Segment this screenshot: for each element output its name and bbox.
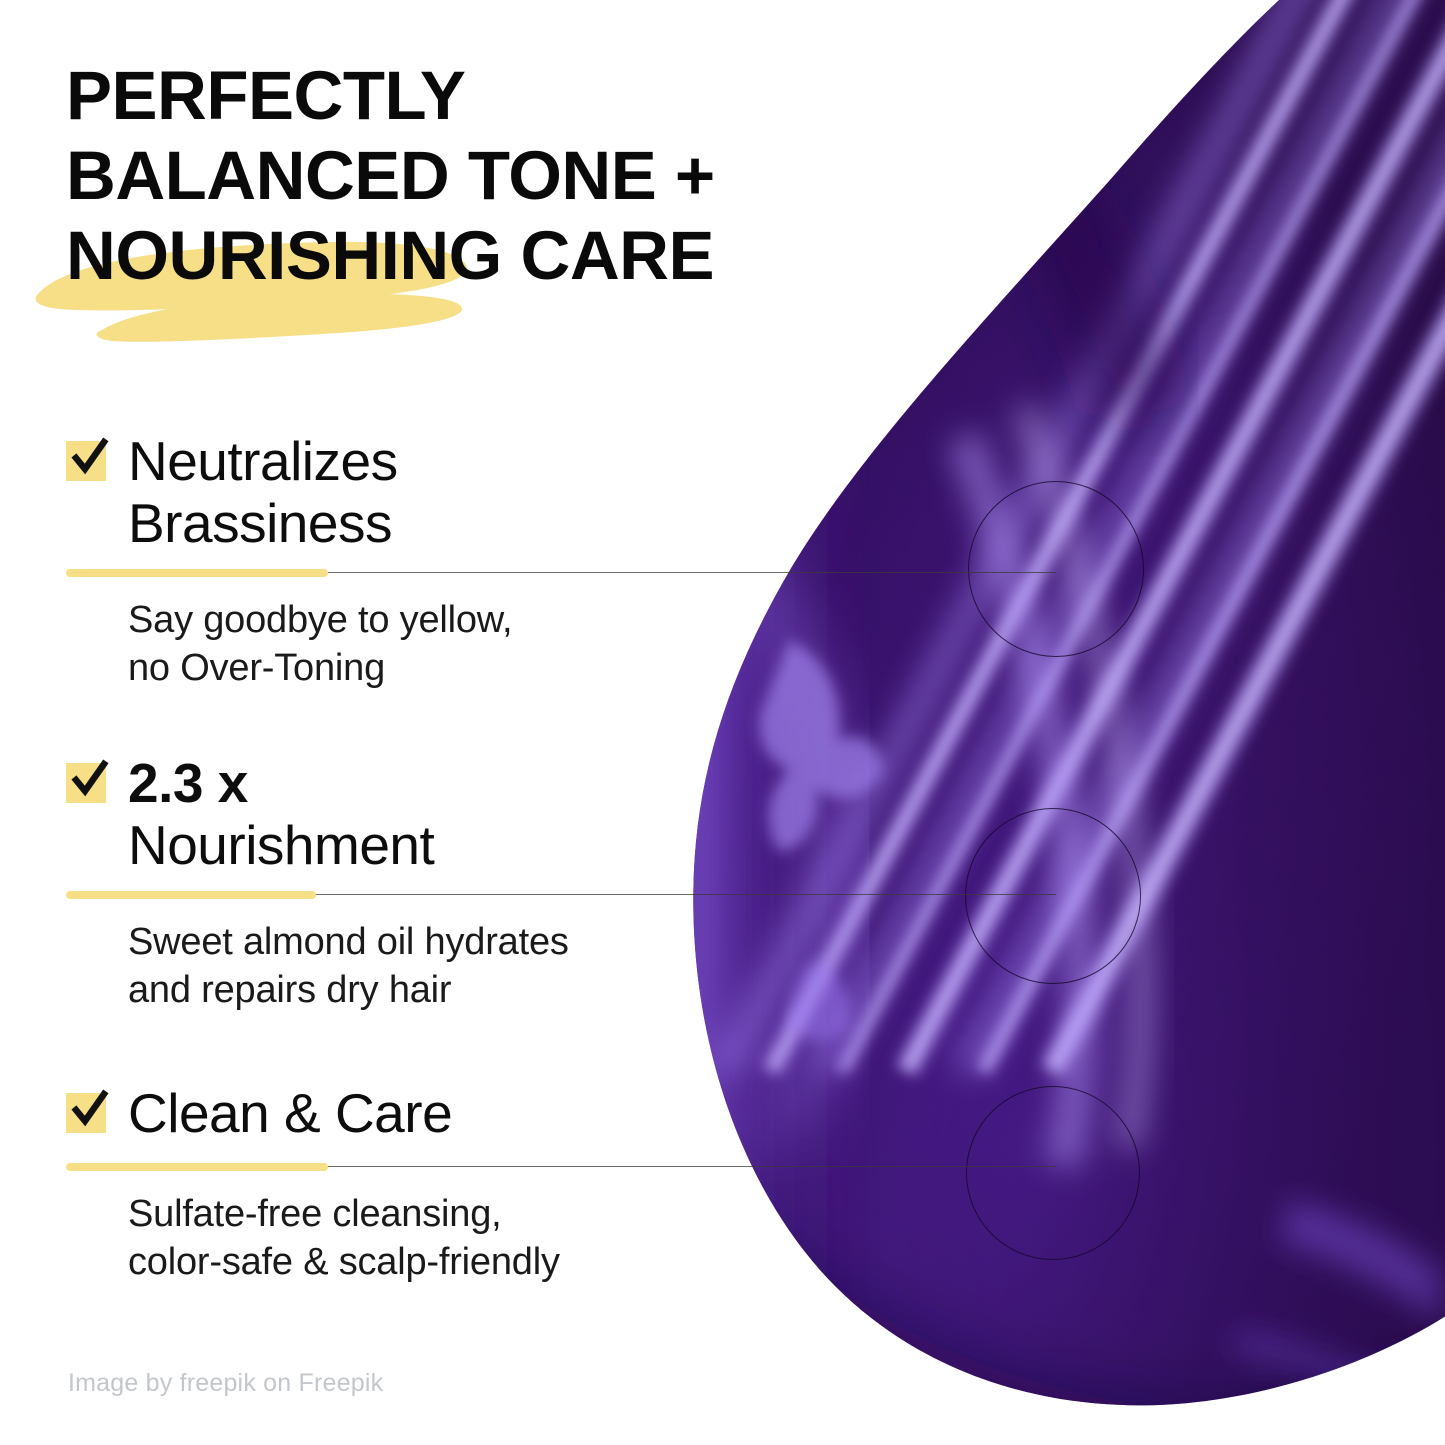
feature-3-rule [66,1162,1066,1172]
feature-2-title-line2: Nourishment [128,814,434,876]
feature-2-leader-line [316,894,1056,895]
image-credit: Image by freepik on Freepik [68,1369,383,1398]
feature-3-desc-line1: Sulfate-free cleansing, [128,1190,1066,1238]
feature-1-title-line2: Brassiness [128,492,398,554]
feature-3-desc-line2: color-safe & scalp-friendly [128,1238,1066,1286]
feature-3-title: Clean & Care [128,1082,452,1144]
feature-2-title-line1: 2.3 x [128,752,248,814]
feature-1-title-line1: Neutralizes [128,430,398,492]
feature-3-description: Sulfate-free cleansing, color-safe & sca… [128,1190,1066,1286]
feature-1-head: Neutralizes Brassiness [66,430,1066,554]
check-icon [66,1093,106,1133]
headline-line-1: PERFECTLY [66,56,966,136]
feature-1-desc-line1: Say goodbye to yellow, [128,596,1066,644]
feature-1-rule-yellow [66,569,328,577]
check-icon [66,441,106,481]
feature-block-1: Neutralizes Brassiness Say goodbye to ye… [66,430,1066,692]
feature-2-rule-yellow [66,891,316,899]
feature-3-head: Clean & Care [66,1082,1066,1144]
check-icon [66,763,106,803]
feature-1-title: Neutralizes Brassiness [128,430,398,554]
feature-1-rule [66,568,1066,578]
headline-line-2: BALANCED TONE + [66,136,966,216]
infographic-canvas: PERFECTLY BALANCED TONE + NOURISHING CAR… [0,0,1445,1445]
headline-line-3: NOURISHING CARE [66,216,966,296]
feature-block-2: 2.3 x Nourishment Sweet almond oil hydra… [66,752,1066,1014]
feature-2-desc-line1: Sweet almond oil hydrates [128,918,1066,966]
feature-3-rule-yellow [66,1163,328,1171]
feature-2-description: Sweet almond oil hydrates and repairs dr… [128,918,1066,1014]
feature-2-desc-line2: and repairs dry hair [128,966,1066,1014]
feature-1-leader-line [328,572,1056,573]
feature-2-head: 2.3 x Nourishment [66,752,1066,876]
feature-3-leader-line [328,1166,1056,1167]
feature-3-title-line1: Clean & Care [128,1082,452,1144]
feature-2-rule [66,890,1066,900]
feature-1-description: Say goodbye to yellow, no Over-Toning [128,596,1066,692]
feature-2-title: 2.3 x Nourishment [128,752,434,876]
feature-1-desc-line2: no Over-Toning [128,644,1066,692]
page-headline: PERFECTLY BALANCED TONE + NOURISHING CAR… [66,56,966,296]
feature-block-3: Clean & Care Sulfate-free cleansing, col… [66,1082,1066,1286]
